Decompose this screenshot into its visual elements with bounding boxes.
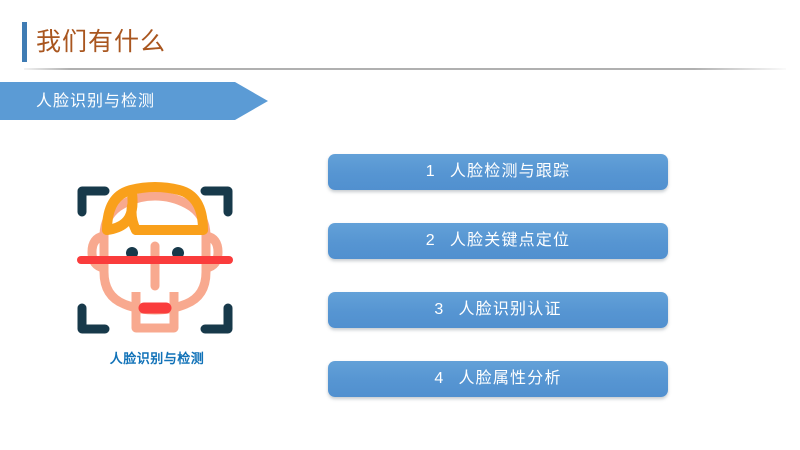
page-title: 我们有什么 (36, 24, 166, 60)
feature-list: 1 人脸检测与跟踪 2 人脸关键点定位 3 人脸识别认证 4 人脸属性分析 (328, 154, 668, 397)
feature-number: 2 (426, 231, 436, 251)
bracket-bottom-right (205, 308, 228, 329)
bracket-top-left (82, 191, 105, 212)
list-item[interactable]: 2 人脸关键点定位 (328, 223, 668, 259)
bracket-bottom-left (82, 308, 105, 329)
feature-label: 人脸关键点定位 (450, 231, 570, 251)
title-accent-bar (22, 22, 27, 62)
feature-number: 1 (426, 162, 436, 182)
face-scan-icon (72, 178, 238, 342)
list-item[interactable]: 4 人脸属性分析 (328, 361, 668, 397)
list-item[interactable]: 1 人脸检测与跟踪 (328, 154, 668, 190)
feature-label: 人脸属性分析 (458, 369, 561, 389)
feature-label: 人脸检测与跟踪 (450, 162, 570, 182)
feature-number: 4 (434, 369, 444, 389)
presentation-slide: 我们有什么 人脸识别与检测 (0, 0, 800, 450)
list-item[interactable]: 3 人脸识别认证 (328, 292, 668, 328)
bracket-top-right (205, 191, 228, 212)
feature-label: 人脸识别认证 (458, 300, 561, 320)
feature-number: 3 (434, 300, 444, 320)
illustration-caption: 人脸识别与检测 (72, 348, 242, 367)
section-banner-label: 人脸识别与检测 (36, 92, 155, 112)
header-divider (24, 68, 786, 70)
